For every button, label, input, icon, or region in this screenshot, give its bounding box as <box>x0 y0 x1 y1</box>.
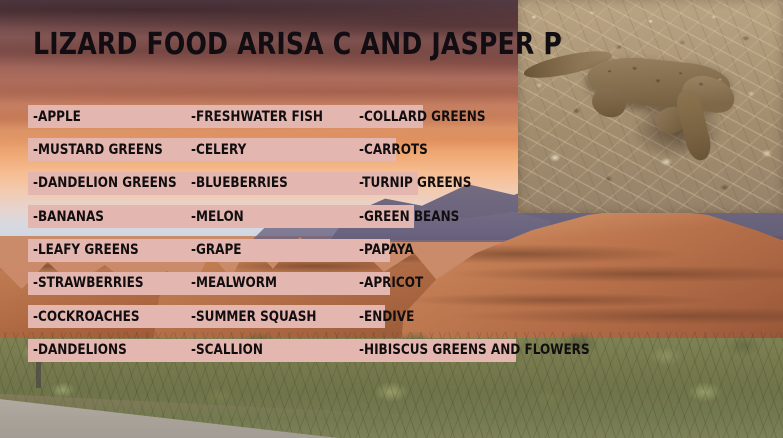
food-item: -MELON <box>191 205 244 228</box>
food-item: -ENDIVE <box>359 305 414 328</box>
food-item: -SUMMER SQUASH <box>191 305 316 328</box>
food-item: -CELERY <box>191 138 246 161</box>
food-list-row: -BANANAS -MELON -GREEN BEANS <box>28 203 528 236</box>
food-item: -PAPAYA <box>359 239 414 262</box>
food-item: -COLLARD GREENS <box>359 105 486 128</box>
food-item: -APPLE <box>33 105 81 128</box>
food-item: -GREEN BEANS <box>359 205 459 228</box>
food-item: -LEAFY GREENS <box>33 239 139 262</box>
food-list: -APPLE -FRESHWATER FISH -COLLARD GREENS … <box>28 103 528 370</box>
food-item: -GRAPE <box>191 239 242 262</box>
food-item: -HIBISCUS GREENS AND FLOWERS <box>359 339 590 362</box>
food-list-row: -APPLE -FRESHWATER FISH -COLLARD GREENS <box>28 103 528 136</box>
food-item: -STRAWBERRIES <box>33 272 144 295</box>
page-title: LIZARD FOOD ARISA C AND JASPER P <box>33 28 562 61</box>
food-item: -MUSTARD GREENS <box>33 138 163 161</box>
food-list-row: -MUSTARD GREENS -CELERY -CARROTS <box>28 136 528 169</box>
food-item: -BANANAS <box>33 205 104 228</box>
food-item: -TURNIP GREENS <box>359 172 471 195</box>
food-item: -CARROTS <box>359 138 428 161</box>
slide-canvas: LIZARD FOOD ARISA C AND JASPER P -APPLE … <box>0 0 783 438</box>
food-item: -FRESHWATER FISH <box>191 105 323 128</box>
food-item: -SCALLION <box>191 339 263 362</box>
food-item: -APRICOT <box>359 272 423 295</box>
food-list-row: -COCKROACHES -SUMMER SQUASH -ENDIVE <box>28 303 528 336</box>
food-item: -BLUEBERRIES <box>191 172 288 195</box>
food-item: -COCKROACHES <box>33 305 140 328</box>
food-list-row: -DANDELIONS -SCALLION -HIBISCUS GREENS A… <box>28 337 528 370</box>
food-list-row: -DANDELION GREENS -BLUEBERRIES -TURNIP G… <box>28 170 528 203</box>
food-item: -DANDELIONS <box>33 339 127 362</box>
food-item: -DANDELION GREENS <box>33 172 177 195</box>
food-list-row: -STRAWBERRIES -MEALWORM -APRICOT <box>28 270 528 303</box>
food-list-row: -LEAFY GREENS -GRAPE -PAPAYA <box>28 237 528 270</box>
food-item: -MEALWORM <box>191 272 277 295</box>
